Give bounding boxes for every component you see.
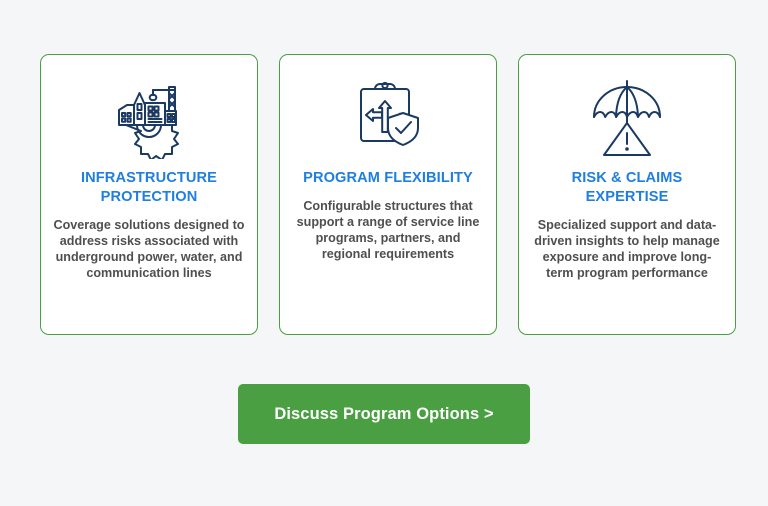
city-buildings-gear-icon [106, 73, 192, 159]
feature-card-program-flexibility[interactable]: PROGRAM FLEXIBILITY Configurable structu… [279, 54, 497, 335]
page-root: INFRASTRUCTURE PROTECTION Coverage solut… [0, 0, 768, 506]
cta-container: Discuss Program Options > [0, 384, 768, 444]
feature-card-description: Coverage solutions designed to address r… [51, 217, 247, 281]
feature-card-title: INFRASTRUCTURE PROTECTION [51, 169, 247, 207]
discuss-program-options-button[interactable]: Discuss Program Options > [238, 384, 530, 444]
umbrella-warning-triangle-icon [584, 73, 670, 159]
feature-card-infrastructure-protection[interactable]: INFRASTRUCTURE PROTECTION Coverage solut… [40, 54, 258, 335]
feature-card-title: RISK & CLAIMS EXPERTISE [529, 169, 725, 207]
clipboard-branching-arrows-shield-check-icon [345, 73, 431, 159]
feature-card-risk-claims-expertise[interactable]: RISK & CLAIMS EXPERTISE Specialized supp… [518, 54, 736, 335]
feature-card-description: Configurable structures that support a r… [290, 198, 486, 262]
feature-card-title: PROGRAM FLEXIBILITY [303, 169, 473, 188]
feature-card-description: Specialized support and data-driven insi… [529, 217, 725, 281]
feature-cards-row: INFRASTRUCTURE PROTECTION Coverage solut… [40, 54, 736, 335]
